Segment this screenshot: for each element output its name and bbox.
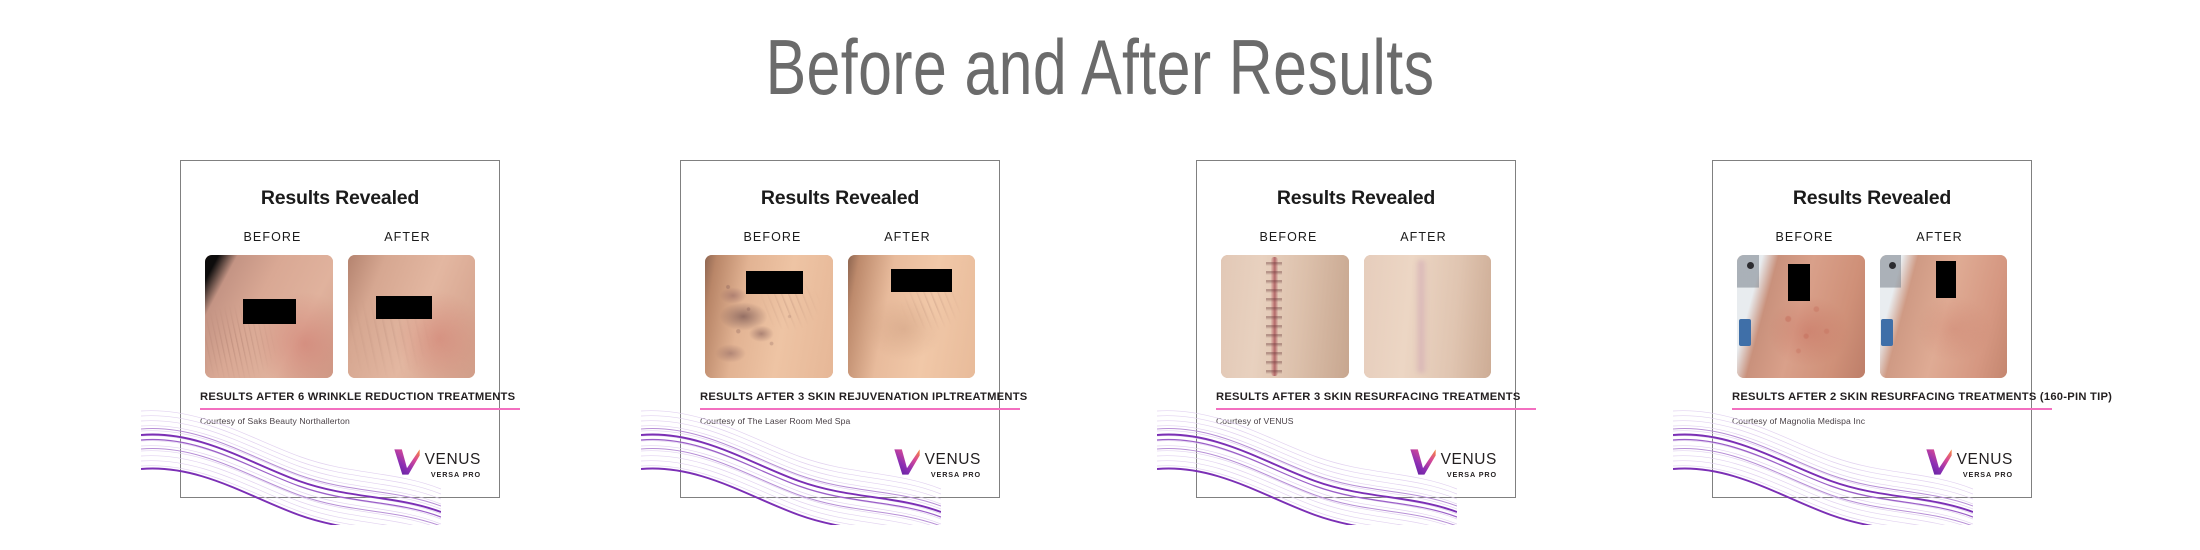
venus-logo: VENUS VERSA PRO [392, 447, 481, 479]
card-courtesy: Courtesy of The Laser Room Med Spa [700, 416, 850, 426]
card-caption-area: RESULTS AFTER 2 SKIN RESURFACING TREATME… [1713, 377, 2031, 497]
results-card[interactable]: Results Revealed BEFORE AFTER [680, 160, 1000, 498]
after-label: AFTER [1356, 230, 1491, 244]
venus-wordmark: VENUS VERSA PRO [1957, 447, 2013, 479]
venus-wordmark: VENUS VERSA PRO [1441, 447, 1497, 479]
card-heading: Results Revealed [681, 187, 999, 210]
card-heading: Results Revealed [1713, 187, 2031, 210]
page-title: Before and After Results [242, 22, 1958, 113]
card-caption-area: RESULTS AFTER 3 SKIN REJUVENATION IPLTRE… [681, 377, 999, 497]
after-photo[interactable] [1880, 255, 2008, 378]
venus-v-icon [1924, 447, 1954, 477]
before-label: BEFORE [1221, 230, 1356, 244]
after-photo[interactable] [1364, 255, 1492, 378]
after-label: AFTER [840, 230, 975, 244]
card-caption-area: RESULTS AFTER 3 SKIN RESURFACING TREATME… [1197, 377, 1515, 497]
venus-name: VENUS [925, 452, 981, 468]
before-after-labels: BEFORE AFTER [1197, 230, 1515, 244]
after-photo[interactable] [848, 255, 976, 378]
before-label: BEFORE [705, 230, 840, 244]
venus-v-icon [392, 447, 422, 477]
caption-divider [1216, 408, 1536, 410]
before-after-labels: BEFORE AFTER [1713, 230, 2031, 244]
redaction-bar [1788, 264, 1810, 301]
venus-name: VENUS [425, 452, 481, 468]
photo-pair [1197, 255, 1515, 378]
results-card[interactable]: Results Revealed BEFORE AFTER RESULT [180, 160, 500, 498]
results-card[interactable]: Results Revealed BEFORE AFTER [1712, 160, 2032, 498]
results-card[interactable]: Results Revealed BEFORE AFTER RESULTS AF… [1196, 160, 1516, 498]
redaction-bar [891, 269, 952, 292]
redaction-bar [746, 271, 803, 294]
card-caption-area: RESULTS AFTER 6 WRINKLE REDUCTION TREATM… [181, 377, 499, 497]
card-caption: RESULTS AFTER 3 SKIN REJUVENATION IPLTRE… [700, 391, 1028, 403]
clinic-background [1880, 255, 1902, 378]
card-courtesy: Courtesy of Saks Beauty Northallerton [200, 416, 350, 426]
before-label: BEFORE [205, 230, 340, 244]
venus-subtitle: VERSA PRO [1441, 470, 1497, 479]
photo-pair [1713, 255, 2031, 378]
before-photo[interactable] [705, 255, 833, 378]
card-caption: RESULTS AFTER 3 SKIN RESURFACING TREATME… [1216, 391, 1521, 403]
venus-name: VENUS [1441, 452, 1497, 468]
venus-v-icon [1408, 447, 1438, 477]
card-heading: Results Revealed [181, 187, 499, 210]
card-caption: RESULTS AFTER 2 SKIN RESURFACING TREATME… [1732, 391, 2112, 403]
before-photo[interactable] [1737, 255, 1865, 378]
venus-subtitle: VERSA PRO [1957, 470, 2013, 479]
caption-divider [200, 408, 520, 410]
before-photo[interactable] [1221, 255, 1349, 378]
caption-divider [700, 408, 1020, 410]
after-label: AFTER [1872, 230, 2007, 244]
venus-v-icon [892, 447, 922, 477]
redaction-bar [243, 299, 295, 324]
card-heading: Results Revealed [1197, 187, 1515, 210]
venus-subtitle: VERSA PRO [925, 470, 981, 479]
card-courtesy: Courtesy of VENUS [1216, 416, 1294, 426]
redaction-bar [1936, 261, 1956, 298]
faded-scar-texture [1364, 255, 1492, 378]
venus-name: VENUS [1957, 452, 2013, 468]
venus-wordmark: VENUS VERSA PRO [425, 447, 481, 479]
photo-pair [181, 255, 499, 378]
venus-logo: VENUS VERSA PRO [1408, 447, 1497, 479]
before-label: BEFORE [1737, 230, 1872, 244]
before-photo[interactable] [205, 255, 333, 378]
venus-logo: VENUS VERSA PRO [1924, 447, 2013, 479]
venus-logo: VENUS VERSA PRO [892, 447, 981, 479]
scar-texture [1221, 255, 1349, 378]
card-caption: RESULTS AFTER 6 WRINKLE REDUCTION TREATM… [200, 391, 515, 403]
before-after-labels: BEFORE AFTER [181, 230, 499, 244]
card-courtesy: Courtesy of Magnolia Medispa Inc [1732, 416, 1865, 426]
venus-wordmark: VENUS VERSA PRO [925, 447, 981, 479]
results-card-grid: Results Revealed BEFORE AFTER RESULT [0, 160, 2200, 520]
after-label: AFTER [340, 230, 475, 244]
redaction-bar [376, 296, 432, 319]
after-photo[interactable] [348, 255, 476, 378]
before-after-labels: BEFORE AFTER [681, 230, 999, 244]
photo-pair [681, 255, 999, 378]
caption-divider [1732, 408, 2052, 410]
before-after-results-page: Before and After Results Results Reveale… [0, 0, 2200, 550]
venus-subtitle: VERSA PRO [425, 470, 481, 479]
